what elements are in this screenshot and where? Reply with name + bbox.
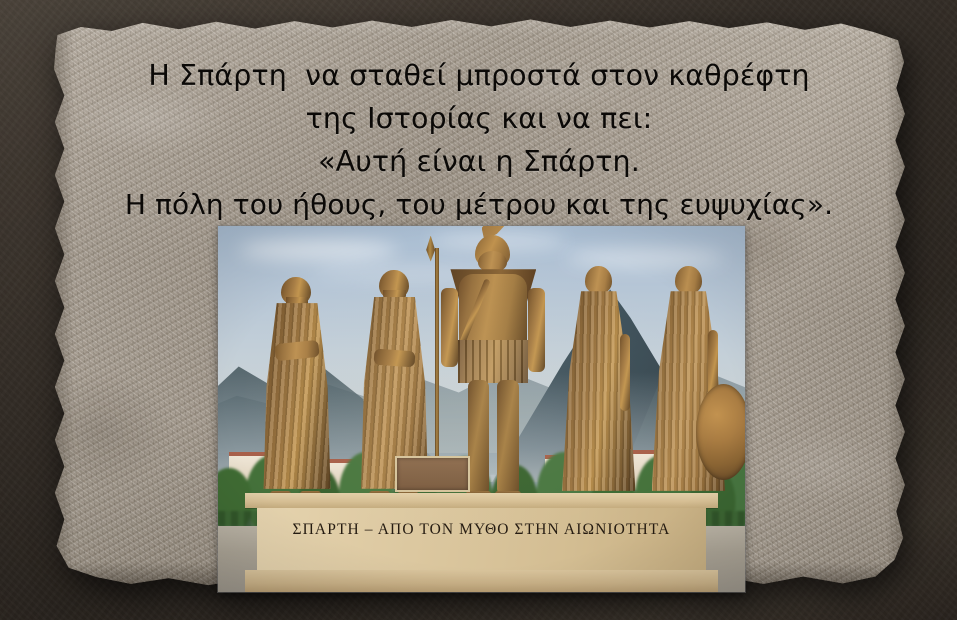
warrior-leg xyxy=(468,380,489,493)
monument-pedestal: ΣΠΑΡΤΗ – ΑΠΟ ΤΟΝ ΜΥΘΟ ΣΤΗΝ ΑΙΩΝΙΟΤΗΤΑ xyxy=(245,493,717,592)
quote-line-2: της Ιστορίας και να πει: xyxy=(48,97,910,140)
hoplite-shield xyxy=(696,384,745,479)
statue-head xyxy=(585,266,613,293)
pedestal-base xyxy=(245,570,717,592)
statue-arm xyxy=(373,349,415,367)
pedestal-cap xyxy=(245,493,717,508)
statue-woman-right xyxy=(650,266,726,493)
quote-line-1: Η Σπάρτη να σταθεί μπροστά στον καθρέφτη xyxy=(48,54,910,97)
statue-arm xyxy=(620,334,630,411)
quote-line-4: Η πόλη του ήθους, του μέτρου και της ευψ… xyxy=(48,183,910,226)
quote-text-block: Η Σπάρτη να σταθεί μπροστά στον καθρέφτη… xyxy=(48,54,910,226)
statue-head xyxy=(675,266,703,293)
robe-folds xyxy=(261,303,334,489)
warrior-leg xyxy=(497,380,518,493)
spear-tip-icon xyxy=(426,236,435,262)
stone-slab: Η Σπάρτη να σταθεί μπροστά στον καθρέφτη… xyxy=(48,16,910,592)
statue-head xyxy=(478,251,507,272)
quote-line-3: «Αυτή είναι η Σπάρτη. xyxy=(48,140,910,183)
warrior-pteruges-skirt xyxy=(458,340,528,382)
statue-robe xyxy=(261,303,334,489)
warrior-spear xyxy=(435,248,439,490)
statue-spartan-warrior xyxy=(445,230,542,494)
statue-elder-left xyxy=(258,277,337,493)
warrior-arm-sword xyxy=(528,288,545,372)
warrior-torso xyxy=(459,274,527,345)
slide-canvas: Η Σπάρτη να σταθεί μπροστά στον καθρέφτη… xyxy=(0,0,957,620)
monument-caption: ΣΠΑΡΤΗ – ΑΠΟ ΤΟΝ ΜΥΘΟ ΣΤΗΝ ΑΙΩΝΙΟΤΗΤΑ xyxy=(245,521,717,539)
monument-photo: ΣΠΑΡΤΗ – ΑΠΟ ΤΟΝ ΜΥΘΟ ΣΤΗΝ ΑΙΩΝΙΟΤΗΤΑ xyxy=(218,226,745,592)
bronze-plaque xyxy=(395,456,470,491)
statue-woman-mid-right xyxy=(561,266,637,493)
pedestal-body xyxy=(257,508,707,570)
warrior-arm-spear xyxy=(441,288,459,367)
